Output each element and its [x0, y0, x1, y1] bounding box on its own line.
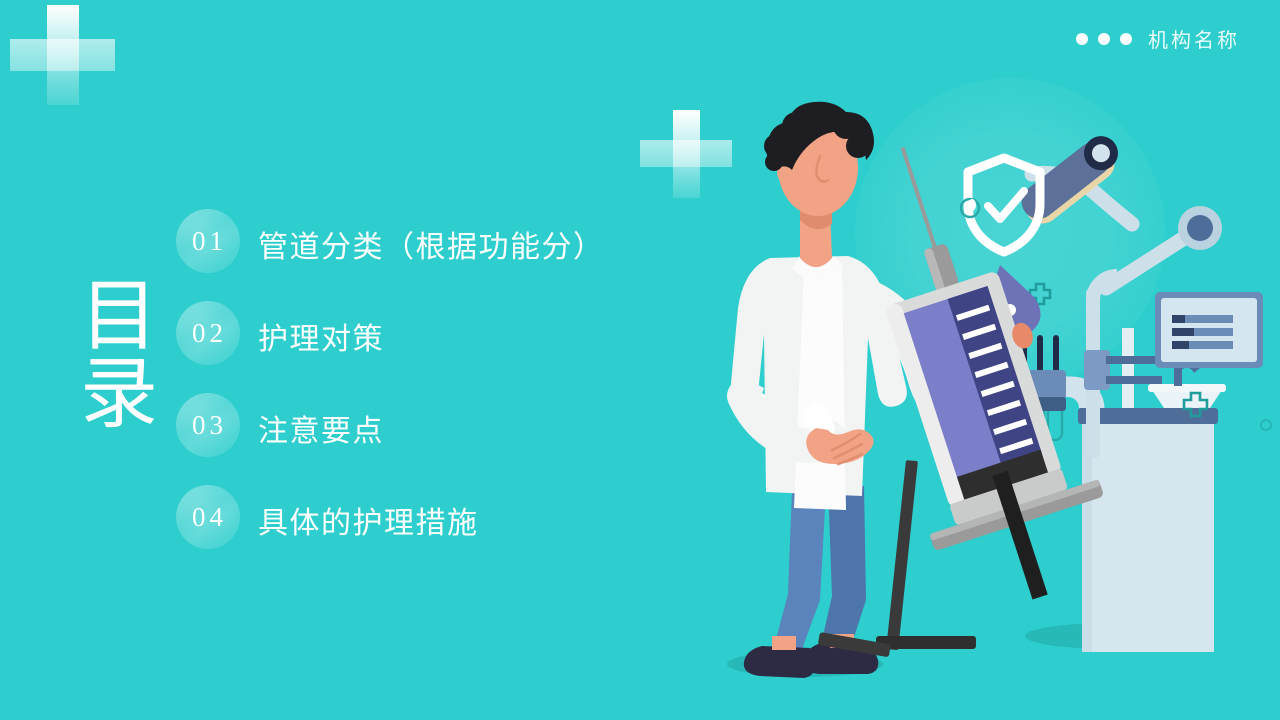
toc-item-04[interactable]: 04 具体的护理措施	[176, 485, 736, 577]
toc-number: 04	[189, 502, 227, 533]
slide-root: 机构名称 目录 01 管道分类（根据功能分） 02 护理对策 03 注意要点 0…	[0, 0, 1280, 720]
doctor-leg-back	[772, 490, 826, 660]
toc-label: 具体的护理措施	[258, 498, 479, 542]
header: 机构名称	[1076, 24, 1240, 53]
organization-name: 机构名称	[1148, 24, 1240, 53]
bubble-dot-icon	[1261, 420, 1271, 430]
toc-item-03[interactable]: 03 注意要点	[176, 393, 736, 485]
toc-badge: 04	[176, 485, 240, 549]
toc-number: 02	[189, 318, 227, 349]
cross-horizontal-bar	[10, 39, 115, 71]
dot-icon	[1076, 33, 1088, 45]
dot-icon	[1120, 33, 1132, 45]
toc-item-02[interactable]: 02 护理对策	[176, 301, 736, 393]
toc-label: 管道分类（根据功能分）	[258, 222, 605, 266]
toc-badge: 02	[176, 301, 240, 365]
toc-list: 01 管道分类（根据功能分） 02 护理对策 03 注意要点 04 具体的护理措…	[176, 209, 736, 577]
toc-badge: 01	[176, 209, 240, 273]
medical-cross-icon	[10, 5, 115, 105]
header-dots	[1076, 33, 1132, 45]
monitor-screen-icon	[1084, 292, 1263, 390]
toc-label: 注意要点	[258, 406, 384, 450]
toc-badge: 03	[176, 393, 240, 457]
page-title: 目录	[50, 262, 154, 442]
dot-icon	[1098, 33, 1110, 45]
doctor-shoe	[744, 646, 814, 678]
toc-label: 护理对策	[258, 314, 384, 358]
arm-joint-inner	[1187, 215, 1213, 241]
medical-scene-illustration	[700, 60, 1280, 720]
toc-item-01[interactable]: 01 管道分类（根据功能分）	[176, 209, 736, 301]
toc-number: 03	[189, 410, 227, 441]
toc-number: 01	[189, 226, 227, 257]
